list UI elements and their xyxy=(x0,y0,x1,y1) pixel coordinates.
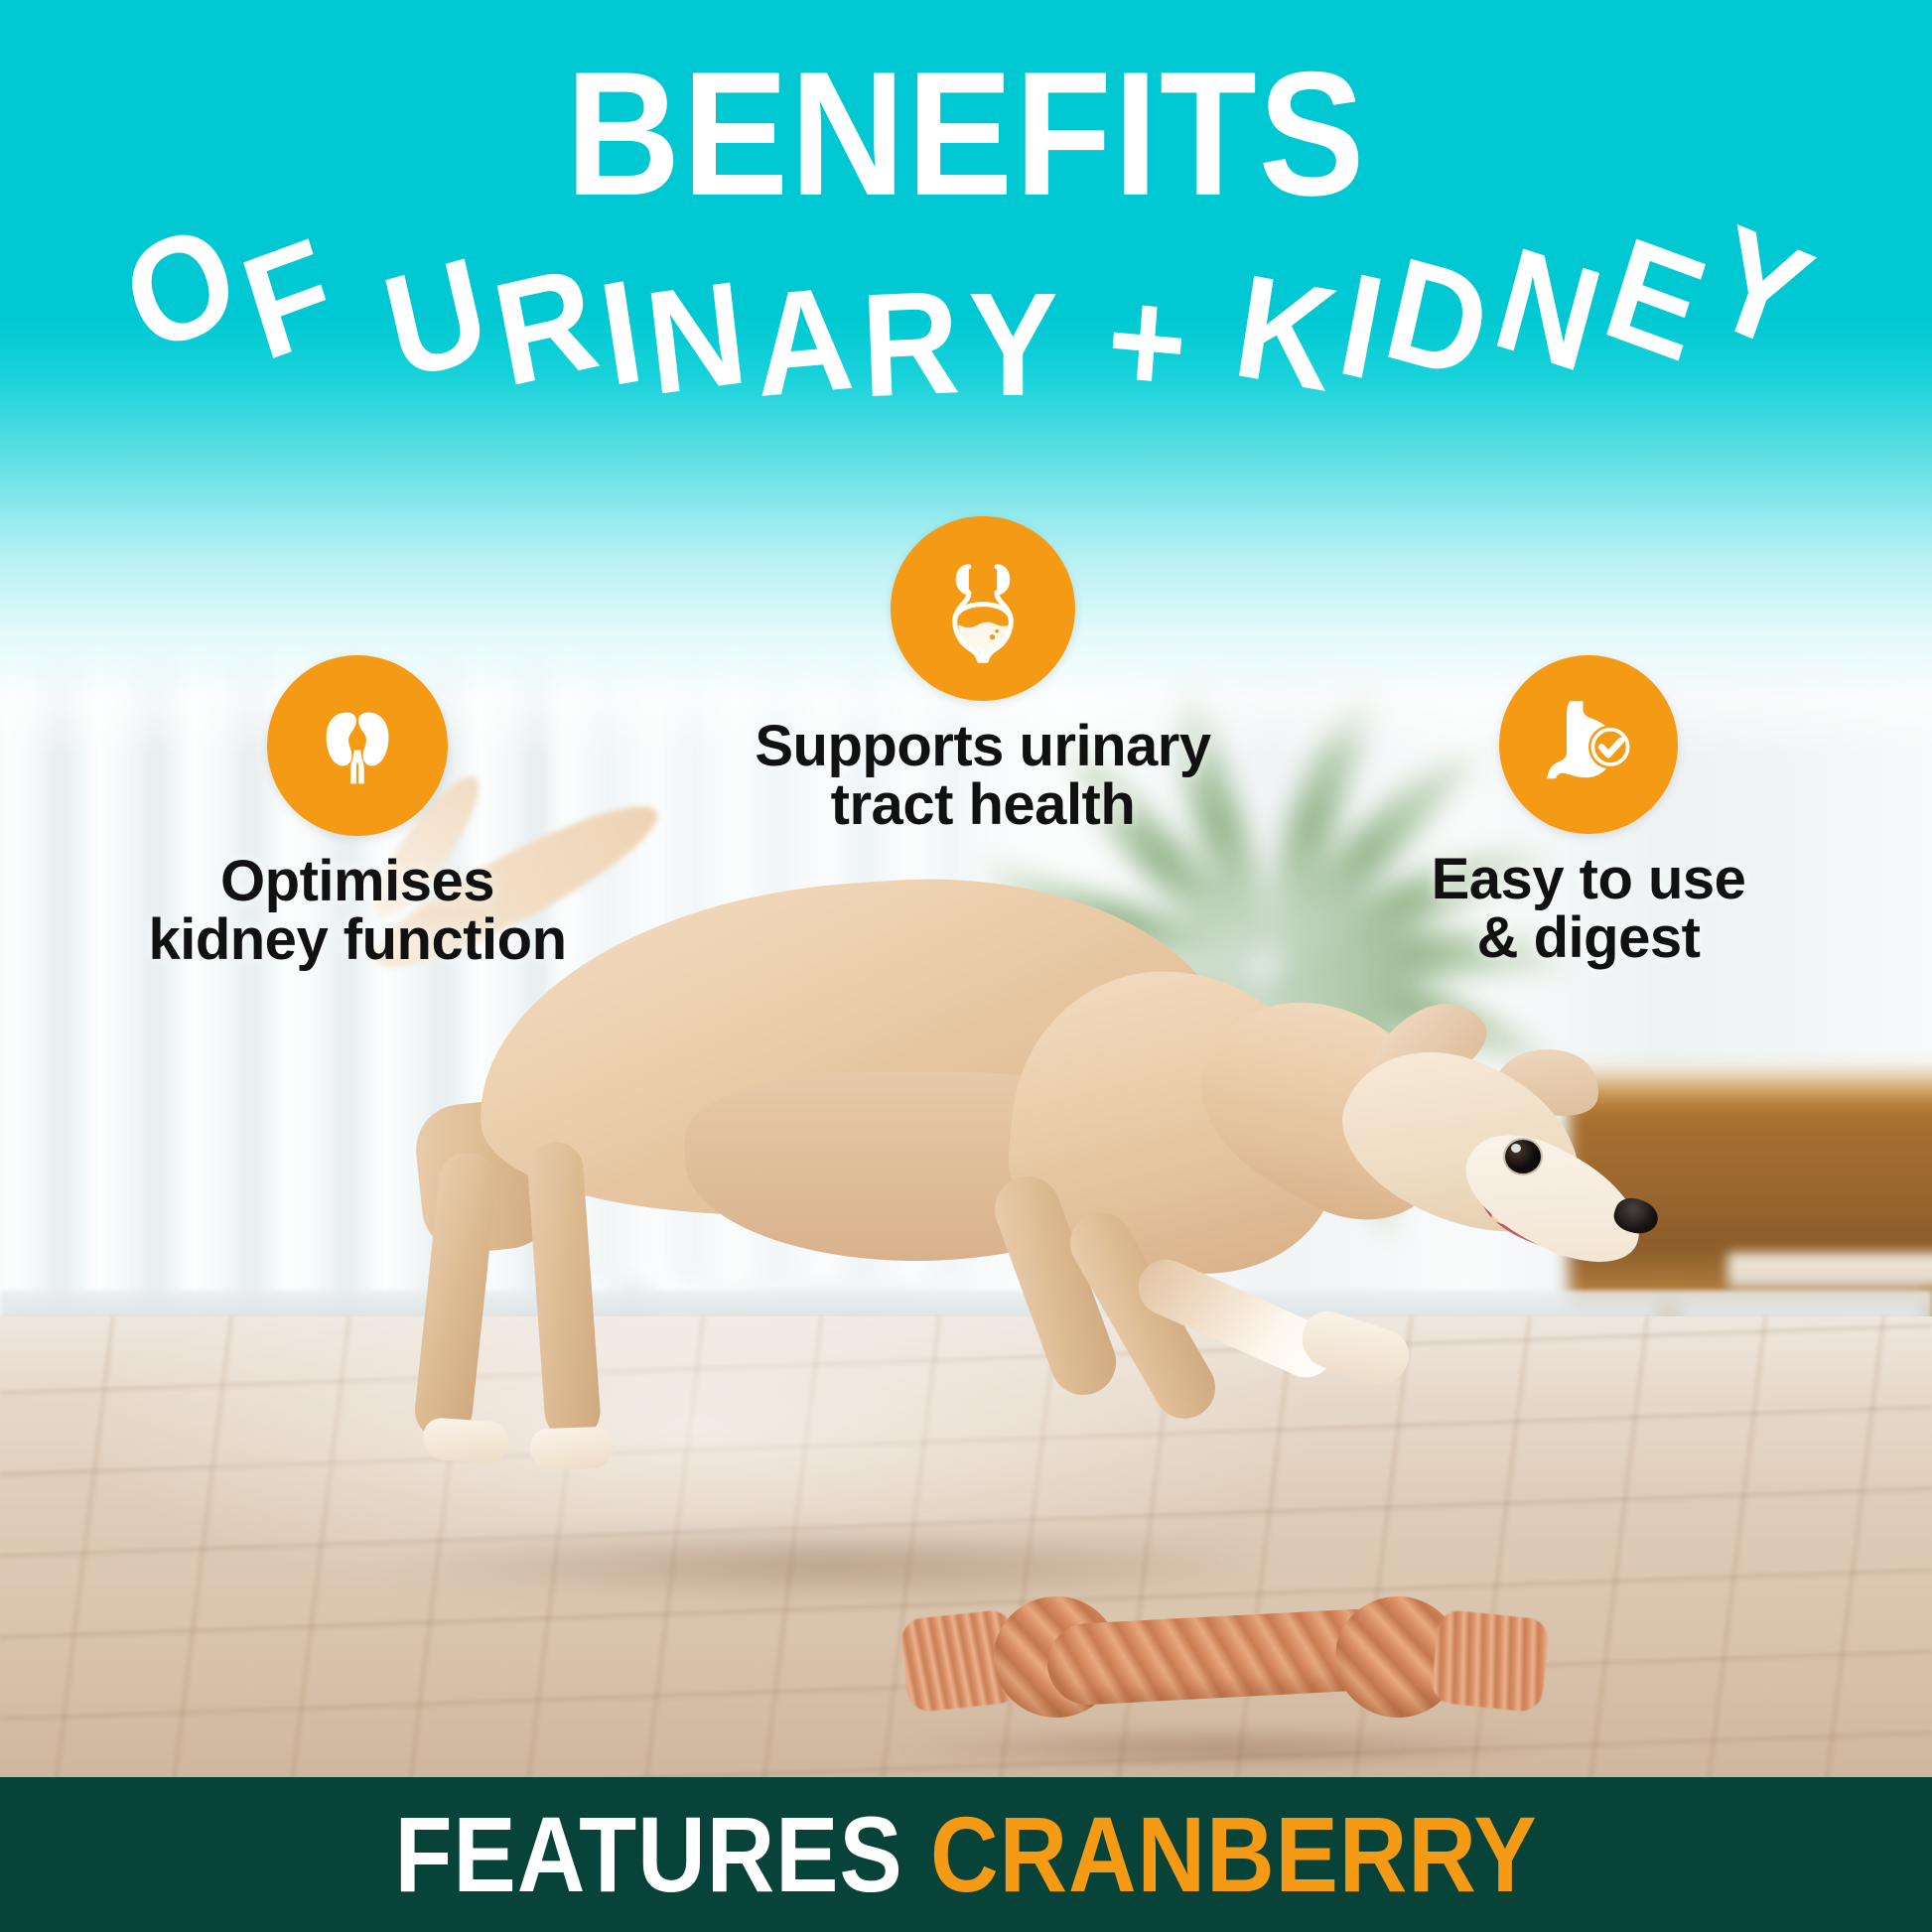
dog-paw-hind-right xyxy=(529,1427,614,1471)
benefits-poster: BENEFITS OF URINARY + KIDNEY Optimises k… xyxy=(0,0,1932,1932)
benefit-label-kidney-function: Optimises kidney function xyxy=(30,852,685,969)
title-arc-char: Y xyxy=(968,272,1058,419)
console-shelf xyxy=(1727,1253,1932,1289)
banner-text-cranberry: CRANBERRY xyxy=(930,1794,1538,1914)
benefit-icon-circle-stomach xyxy=(1499,655,1678,834)
title-arc-char xyxy=(1061,270,1104,419)
dog-paw-hind-left xyxy=(422,1417,510,1464)
benefit-item-kidney-function[interactable]: Optimises kidney function xyxy=(30,655,685,969)
benefit-icon-circle-kidney xyxy=(267,655,448,836)
title-arc-char: A xyxy=(750,265,858,420)
bottom-banner: FEATURES CRANBERRY xyxy=(0,1777,1932,1932)
benefit-item-easy-digest[interactable]: Easy to use & digest xyxy=(1261,655,1916,967)
title-arc-char: O xyxy=(107,200,254,377)
banner-text: FEATURES CRANBERRY xyxy=(394,1801,1537,1908)
rope-frayed-end-right xyxy=(1430,1608,1550,1713)
stomach-check-icon xyxy=(1534,688,1643,802)
header-title-block: BENEFITS OF URINARY + KIDNEY xyxy=(0,0,1932,437)
title-arc-char: D xyxy=(1374,235,1501,403)
title-line-1: BENEFITS xyxy=(96,46,1835,222)
title-arc-char: N xyxy=(639,259,753,418)
dog-eye-glint xyxy=(1511,1144,1521,1153)
banner-text-features: FEATURES xyxy=(394,1794,902,1914)
title-arc-char: K xyxy=(1227,252,1345,414)
title-arc-char: R xyxy=(484,244,608,410)
title-line-2-arc: OF URINARY + KIDNEY xyxy=(0,210,1932,419)
benefit-icon-circle-urinary xyxy=(891,516,1075,701)
title-arc-char: Y xyxy=(1694,203,1827,375)
title-arc-char: E xyxy=(1591,214,1721,385)
benefit-label-easy-digest: Easy to use & digest xyxy=(1261,850,1916,967)
title-arc-char: N xyxy=(1482,224,1614,395)
dog-eye xyxy=(1505,1140,1541,1173)
title-arc-char: R xyxy=(859,269,962,420)
title-arc-char: + xyxy=(1102,266,1191,420)
benefit-label-urinary-tract: Supports urinary tract health xyxy=(635,717,1330,834)
urinary-tract-icon xyxy=(924,548,1041,670)
dog-paw-front xyxy=(1295,1305,1416,1391)
benefit-item-urinary-tract[interactable]: Supports urinary tract health xyxy=(635,516,1330,834)
kidneys-icon xyxy=(302,688,413,804)
rope-toy xyxy=(898,1579,1534,1747)
